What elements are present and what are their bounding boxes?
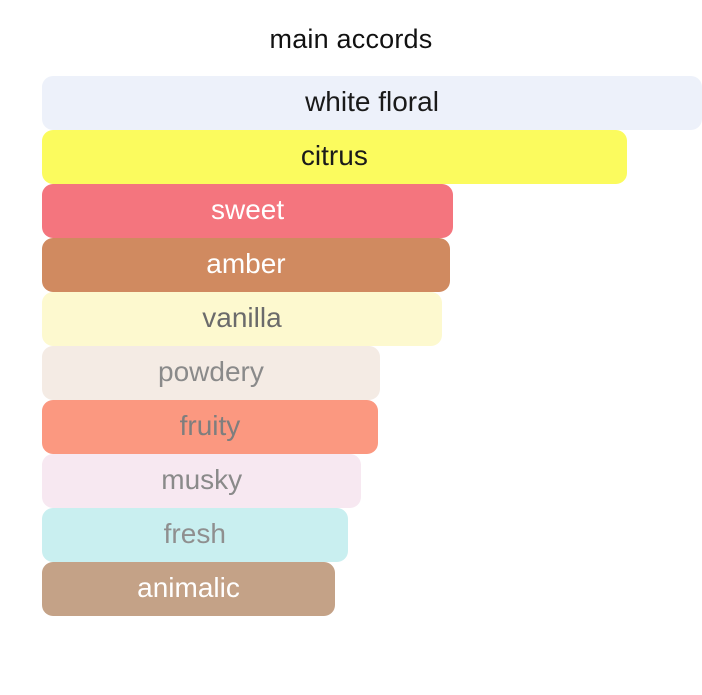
accord-bar-row: musky xyxy=(42,454,702,508)
accord-bar-label: powdery xyxy=(158,357,264,389)
accord-bar-label: sweet xyxy=(211,195,284,227)
accord-bar-label: citrus xyxy=(301,141,368,173)
accord-bar-row: fresh xyxy=(42,508,702,562)
accord-bar[interactable]: amber xyxy=(42,238,450,292)
accord-bar-label: white floral xyxy=(305,87,439,119)
accord-bar[interactable]: fruity xyxy=(42,400,378,454)
main-accords-chart: main accords white floralcitrussweetambe… xyxy=(0,0,702,695)
accord-bar[interactable]: vanilla xyxy=(42,292,442,346)
accord-bar-row: powdery xyxy=(42,346,702,400)
accord-bar-row: sweet xyxy=(42,184,702,238)
accord-bar[interactable]: powdery xyxy=(42,346,380,400)
accord-bar-label: vanilla xyxy=(202,303,281,335)
accord-bar-row: white floral xyxy=(42,76,702,130)
accord-bar[interactable]: white floral xyxy=(42,76,702,130)
accord-bar-row: vanilla xyxy=(42,292,702,346)
accord-bar[interactable]: citrus xyxy=(42,130,627,184)
accord-bar[interactable]: fresh xyxy=(42,508,348,562)
chart-title: main accords xyxy=(0,20,702,58)
accord-bar[interactable]: sweet xyxy=(42,184,453,238)
accord-bar-label: musky xyxy=(161,465,242,497)
accord-bar-label: fresh xyxy=(164,519,226,551)
accord-bar[interactable]: animalic xyxy=(42,562,335,616)
accord-bar[interactable]: musky xyxy=(42,454,361,508)
accord-bar-row: citrus xyxy=(42,130,702,184)
accord-bar-label: animalic xyxy=(137,573,240,605)
accord-bar-row: animalic xyxy=(42,562,702,616)
accord-bar-label: fruity xyxy=(180,411,241,443)
accord-bar-list: white floralcitrussweetambervanillapowde… xyxy=(42,76,702,616)
accord-bar-label: amber xyxy=(206,249,285,281)
accord-bar-row: fruity xyxy=(42,400,702,454)
accord-bar-row: amber xyxy=(42,238,702,292)
